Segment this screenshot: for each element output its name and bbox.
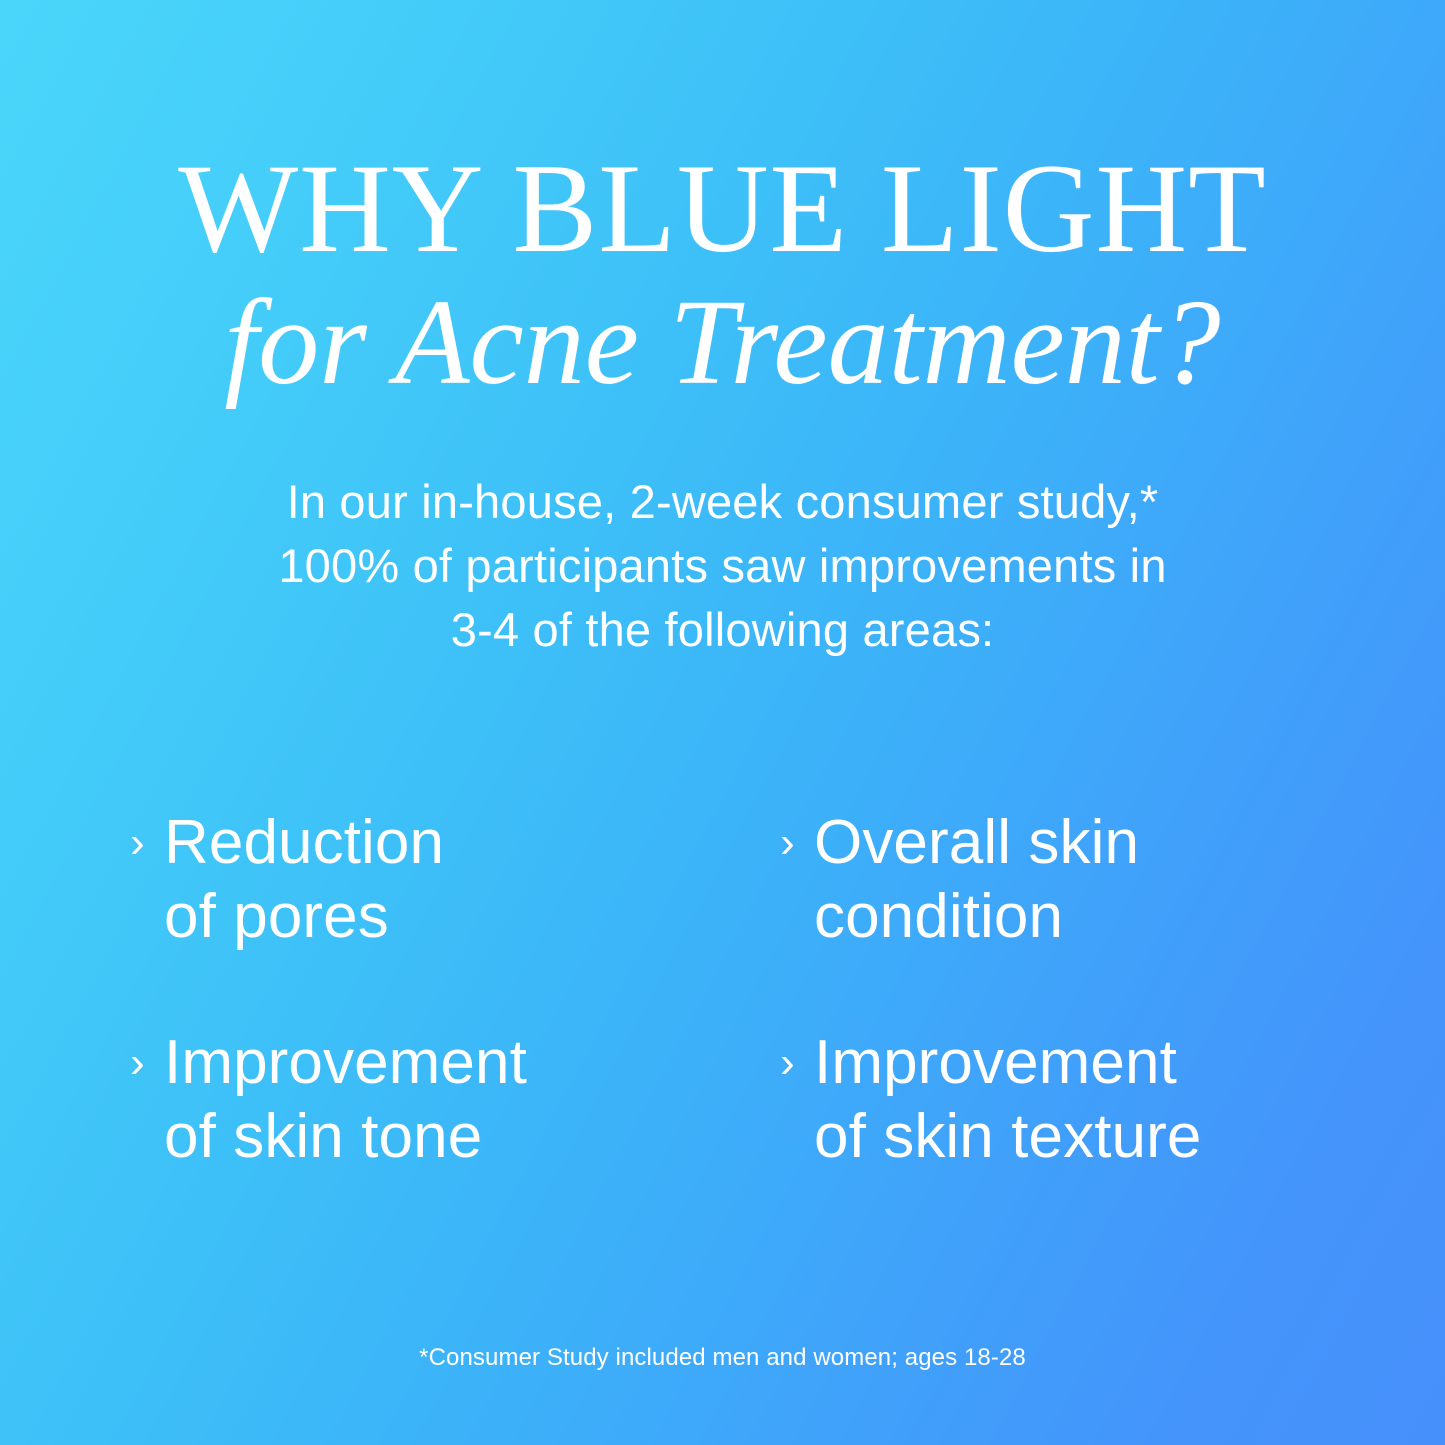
headline: WHY BLUE LIGHT for Acne Treatment?	[0, 146, 1445, 409]
benefit-item-improvement-of-skin-texture: › Improvement of skin texture	[780, 1026, 1330, 1246]
headline-line-primary: WHY BLUE LIGHT	[0, 146, 1445, 273]
benefit-item-improvement-of-skin-tone: › Improvement of skin tone	[130, 1026, 780, 1246]
chevron-right-icon: ›	[780, 1026, 814, 1100]
benefit-label: Overall skin condition	[814, 806, 1139, 954]
chevron-right-icon: ›	[130, 806, 164, 880]
chevron-right-icon: ›	[130, 1026, 164, 1100]
benefit-label: Reduction of pores	[164, 806, 444, 954]
benefit-item-reduction-of-pores: › Reduction of pores	[130, 806, 780, 1026]
benefit-label: Improvement of skin texture	[814, 1026, 1201, 1174]
intro-paragraph: In our in-house, 2-week consumer study,*…	[168, 470, 1278, 662]
footnote-disclaimer: *Consumer Study included men and women; …	[0, 1343, 1445, 1373]
promo-poster: WHY BLUE LIGHT for Acne Treatment? In ou…	[0, 0, 1445, 1445]
benefits-grid: › Reduction of pores › Overall skin cond…	[130, 806, 1330, 1246]
intro-line-2: 100% of participants saw improvements in	[168, 534, 1278, 598]
benefit-item-overall-skin-condition: › Overall skin condition	[780, 806, 1330, 1026]
intro-line-3: 3-4 of the following areas:	[168, 598, 1278, 662]
chevron-right-icon: ›	[780, 806, 814, 880]
headline-line-secondary: for Acne Treatment?	[0, 277, 1445, 409]
benefit-label: Improvement of skin tone	[164, 1026, 527, 1174]
intro-line-1: In our in-house, 2-week consumer study,*	[168, 470, 1278, 534]
